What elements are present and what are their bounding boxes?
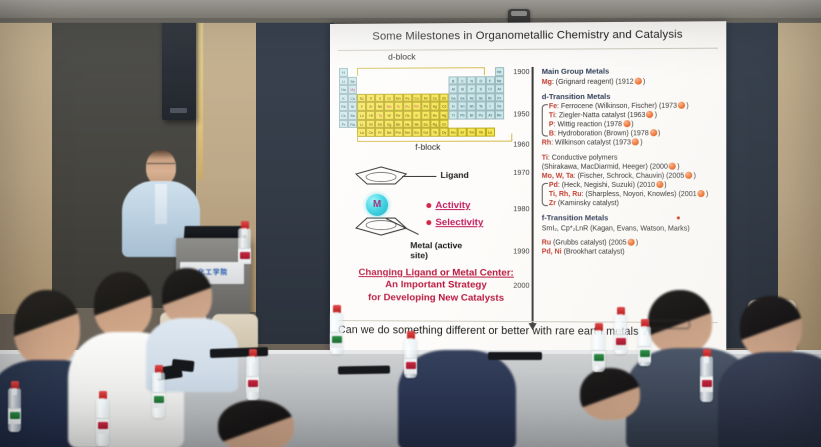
ptable-cell-empty [485,119,494,128]
ptable-cell-kr: Kr [495,93,504,102]
timeline-year-1990: 1990 [503,246,529,255]
ptable-cell-empty [439,76,448,85]
ptable-cell-empty [421,76,430,85]
ptable-cell-ir: Ir [412,111,421,120]
microphone [338,366,390,375]
ptable-cell-pd: Pd [421,102,430,111]
ptable-cell-empty [403,76,412,85]
ptable-cell-empty [485,67,494,76]
nobel-medal-icon [698,190,705,197]
ptable-cell-n: N [467,76,476,85]
element-symbol: Mg [542,78,552,85]
ptable-cell-ga: Ga [449,93,458,102]
ptable-cell-empty [421,85,430,94]
nobel-medal-icon [650,130,657,137]
ptable-cell-db: Db [375,119,384,128]
timeline-year-1950: 1950 [503,109,529,118]
ptable-cell-ba: Ba [348,111,357,120]
ptable-cell-empty [394,85,403,94]
ptable-cell-rg: Rg [430,119,439,128]
milestone-entry: Ti: Ziegler-Natta catalyst (1963) [549,111,722,121]
milestone-section: Ti: Conductive polymers (Shirakawa, MacD… [542,153,722,208]
element-symbol: Ti [549,112,555,119]
shirt-placket [155,184,167,224]
ptable-cell-co: Co [412,93,421,102]
slide-title: Some Milestones in Organometallic Chemis… [330,28,726,43]
ptable-cell-mg: Mg [348,85,357,94]
bullet-selectivity-label: Selectivity [435,217,483,228]
milestone-section: d-Transition MetalsFe: Ferrocene (Wilkin… [542,91,722,148]
milestone-entry: Rh: Wilkinson catalyst (1973) [542,139,722,149]
milestone-brace-group: Fe: Ferrocene (Wilkinson, Fischer) (1973… [542,102,722,139]
milestone-entry: P: Wittig reaction (1978) [549,120,722,130]
ptable-cell-s: S [476,84,485,93]
ptable-cell-empty [467,119,476,128]
speaker-bottle [238,228,251,262]
ptable-cell-hf: Hf [366,111,375,120]
lecture-room-photo: Some Milestones in Organometallic Chemis… [0,0,821,447]
ptable-cell-c: C [458,76,467,85]
ptable-cell-mo: Mo [385,102,394,111]
audience-member [196,400,320,447]
ptable-cell-li: Li [339,77,348,86]
ptable-cell-te: Te [476,102,485,111]
milestone-entry: (Shirakawa, MacDiarmid, Heeger) (2000) [542,162,722,171]
wall-navy-left [256,14,334,344]
milestone-entry: Pd, Ni (Brookhart catalyst) [542,247,722,257]
nobel-medal-icon [678,102,685,109]
ptable-cell-empty [385,76,394,85]
milestone-entry: Pd: (Heck, Negishi, Suzuki) (2010) [549,181,722,190]
ptable-cell-be: Be [348,76,357,85]
ptable-cell-as: As [467,93,476,102]
nobel-medal-icon [635,77,642,84]
ptable-cell-ag: Ag [430,102,439,111]
ptable-cell-os: Os [403,111,412,120]
ptable-cell-h: H [339,68,348,77]
milestone-heading: Main Group Metals [542,66,722,76]
ptable-cell-empty [449,119,458,128]
bullet-activity-label: Activity [435,200,470,211]
bullet-activity: Activity [426,200,470,211]
ptable-cell-rb: Rb [339,102,348,111]
milestone-section: f-Transition MetalsSmI₂, Cp*₂LnR (Kagan,… [542,213,722,233]
strategy-line-1: Changing Ligand or Metal Center: [338,267,535,280]
ptable-cell-y: Y [357,102,366,111]
ptable-cell-cr: Cr [385,94,394,103]
milestone-entry: SmI₂, Cp*₂LnR (Kagan, Evans, Watson, Mar… [542,224,722,233]
water-bottle [404,338,417,378]
water-bottle [330,312,343,354]
milestone-entry: Ru (Grubbs catalyst) (2005) [542,238,722,248]
milestones-column: Main Group MetalsMg: (Grignard reagent) … [542,66,722,262]
element-symbol: Pd [549,182,558,189]
element-symbol: Pd, Ni [542,248,562,255]
ptable-cell-empty [385,85,394,94]
ptable-cell-sb: Sb [467,102,476,111]
bullet-dot-icon [426,203,431,208]
ptable-cell-ar: Ar [495,84,504,93]
ptable-cell-empty [430,76,439,85]
f-block-label: f-block [415,142,440,152]
ptable-cell-p: P [467,85,476,94]
d-block-brace [357,67,485,76]
nobel-medal-icon [623,120,630,127]
phone [171,359,194,372]
ptable-cell-nb: Nb [375,102,384,111]
strategy-line-3: for Developing New Catalysts [338,292,535,305]
milestone-section: Main Group MetalsMg: (Grignard reagent) … [542,66,722,87]
microphone [488,352,542,360]
water-bottle [152,372,165,418]
ptable-cell-empty [394,76,403,85]
ptable-cell-se: Se [476,93,485,102]
ptable-cell-po: Po [476,110,485,119]
timeline-year-1970: 1970 [503,168,529,177]
ptable-cell-fe: Fe [403,93,412,102]
ptable-cell-b: B [449,76,458,85]
ptable-cell-empty [476,119,485,128]
ptable-cell-empty [412,76,421,85]
ptable-cell-pb: Pb [458,111,467,120]
ptable-cell-rf: Rf [366,119,375,128]
glasses-icon [646,320,690,329]
milestone-entry: Zr (Kaminsky catalyst) [549,199,722,208]
bullet-dot-icon [426,220,431,225]
milestone-entry: B: Hydroboration (Brown) (1978) [549,129,722,139]
ptable-cell-empty [366,76,375,85]
milestone-entry: Ti, Rh, Ru: (Sharpless, Noyori, Knowles)… [549,190,722,199]
ptable-cell-sc: Sc [357,94,366,103]
ptable-cell-cu: Cu [430,93,439,102]
ptable-cell-zn: Zn [439,93,448,102]
annotation-dot-icon [677,216,680,219]
milestone-entry: Mg: (Grignard reagent) (1912) [542,77,722,87]
periodic-table: HHeLiBeBCNOFNeNaMgAlSiPSClArKCaScTiVCrMn… [339,67,504,137]
timeline-year-1960: 1960 [503,140,529,149]
ptable-cell-ge: Ge [458,93,467,102]
element-symbol: B [549,131,554,138]
timeline-axis [532,67,534,324]
ptable-cell-rh: Rh [412,102,421,111]
ptable-cell-tl: Tl [449,111,458,120]
ptable-cell-zr: Zr [366,102,375,111]
ptable-cell-fr: Fr [339,120,348,129]
ptable-cell-lr: Lr [357,119,366,128]
f-block-brace [357,134,512,142]
nobel-medal-icon [628,238,635,245]
ptable-cell-empty [375,76,384,85]
audience-member [726,296,821,447]
wall-speaker-icon [162,8,196,120]
ptable-cell-i: I [485,102,494,111]
ptable-cell-hg: Hg [439,111,448,120]
audience-member [560,368,670,447]
element-symbol: Mo, W, Ta [542,173,574,180]
water-bottle [700,356,713,402]
milestone-section: Ru (Grubbs catalyst) (2005)Pd, Ni (Brook… [542,238,722,257]
metal-center-sphere: M [366,194,388,216]
ptable-cell-ru: Ru [403,102,412,111]
water-bottle [8,388,21,432]
ptable-cell-sr: Sr [348,102,357,111]
water-bottle [614,314,627,354]
metal-label: Metal (active site) [410,240,464,260]
ptable-cell-empty [366,85,375,94]
ptable-cell-at: At [485,110,494,119]
ptable-cell-k: K [339,94,348,103]
ptable-cell-ne: Ne [495,76,504,85]
ptable-cell-ti: Ti [366,94,375,103]
ptable-cell-empty [439,85,448,94]
nobel-medal-icon [632,139,639,146]
milestone-brace-group: Pd: (Heck, Negishi, Suzuki) (2010)Ti, Rh… [542,181,722,209]
element-symbol: Zr [549,200,556,207]
ptable-cell-sg: Sg [385,119,394,128]
ptable-cell-ra: Ra [348,119,357,128]
ptable-cell-mt: Mt [412,119,421,128]
ptable-cell-ds: Ds [421,119,430,128]
element-symbol: Ru [542,239,551,246]
ptable-cell-v: V [375,94,384,103]
ptable-cell-al: Al [449,85,458,94]
ptable-cell-ca: Ca [348,94,357,103]
ptable-cell-empty [412,85,421,94]
ptable-cell-ni: Ni [421,93,430,102]
ptable-cell-w: W [385,111,394,120]
milestone-entry: Ti: Conductive polymers [542,153,722,162]
milestone-heading: f-Transition Metals [542,213,722,222]
element-symbol: P [549,122,554,129]
milestone-heading: d-Transition Metals [542,91,722,101]
water-bottle [246,356,259,400]
element-symbol: Ti, Rh, Ru [549,191,582,198]
ptable-cell-au: Au [430,111,439,120]
element-symbol: Ti [542,154,548,161]
timeline-year-2000: 2000 [503,281,529,290]
ptable-cell-cl: Cl [485,84,494,93]
metal-center-letter: M [366,194,388,216]
ligand-leader-line [402,176,436,177]
element-symbol: Rh [542,140,551,147]
water-bottle [592,330,605,372]
nobel-medal-icon [685,171,692,178]
ptable-cell-tc: Tc [394,102,403,111]
ptable-cell-lu: Lu [357,111,366,120]
ptable-cell-pt: Pt [421,111,430,120]
ptable-cell-empty [403,85,412,94]
ptable-cell-bh: Bh [394,119,403,128]
ptable-cell-empty [357,76,366,85]
ptable-cell-o: O [476,76,485,85]
nobel-medal-icon [656,181,663,188]
ptable-cell-empty [375,85,384,94]
ptable-cell-empty [357,85,366,94]
element-symbol: Fe [549,103,557,110]
ptable-cell-cn: Cn [439,119,448,128]
water-bottle [638,326,651,366]
d-block-label: d-block [388,51,416,61]
water-bottle [96,398,109,446]
cp-ring-top-icon [354,166,408,186]
ptable-cell-hs: Hs [403,119,412,128]
bullet-selectivity: Selectivity [426,217,483,228]
ptable-cell-re: Re [394,111,403,120]
nobel-medal-icon [646,111,653,118]
ptable-cell-mn: Mn [394,93,403,102]
timeline-year-1900: 1900 [503,67,529,76]
ptable-cell-empty [458,119,467,128]
ptable-cell-na: Na [339,85,348,94]
ptable-cell-si: Si [458,85,467,94]
timeline-year-1980: 1980 [503,204,529,213]
glasses-icon [147,163,175,169]
ptable-cell-sn: Sn [458,102,467,111]
nobel-medal-icon [669,162,676,169]
ptable-cell-bi: Bi [467,110,476,119]
ptable-cell-empty [430,85,439,94]
ptable-cell-br: Br [485,93,494,102]
ptable-cell-ta: Ta [375,111,384,120]
milestone-entry: Mo, W, Ta: (Fischer, Schrock, Chauvin) (… [542,171,722,180]
ptable-cell-f: F [485,76,494,85]
ptable-cell-cs: Cs [339,111,348,120]
ligand-label: Ligand [440,170,468,180]
ptable-cell-empty [495,119,504,128]
ptable-cell-cd: Cd [439,102,448,111]
ptable-cell-empty [348,68,357,77]
ptable-cell-in: In [449,102,458,111]
